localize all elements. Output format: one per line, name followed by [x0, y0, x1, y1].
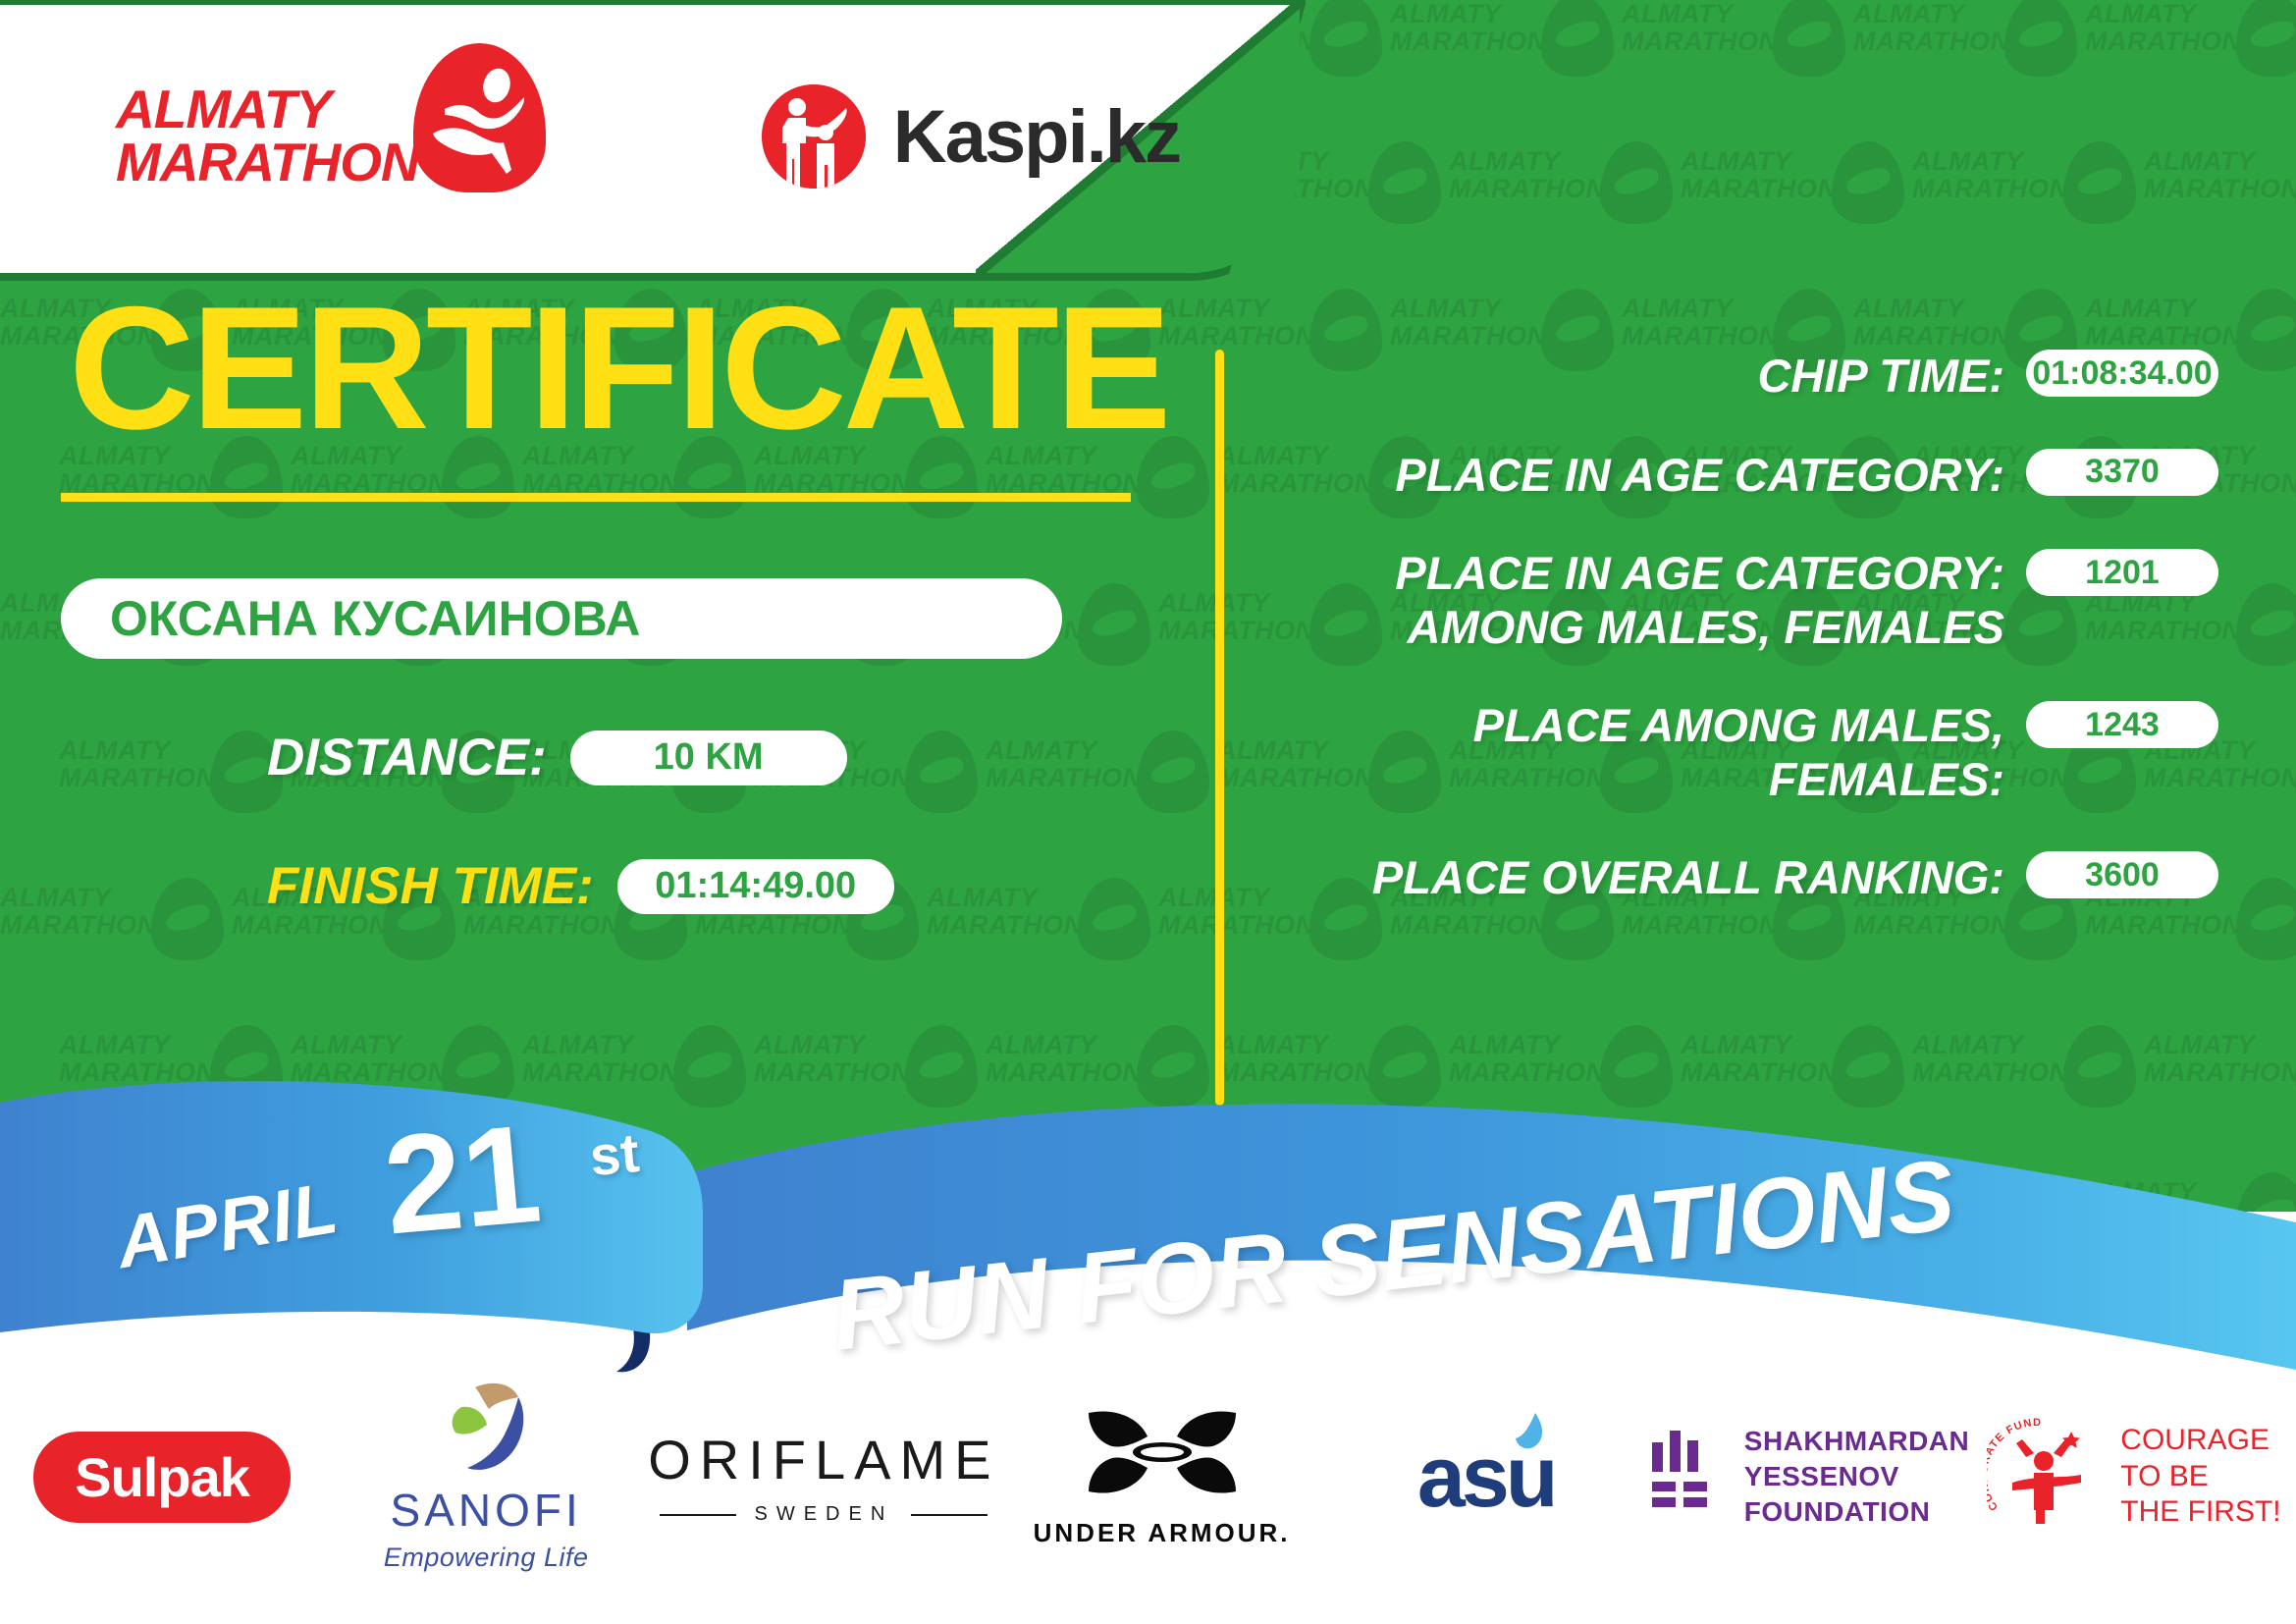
place-age-category-gender-value: 1201: [2085, 554, 2160, 592]
place-age-category-gender-label-line1: PLACE IN AGE CATEGORY:: [1395, 547, 2004, 599]
asu-droplet-icon: [1512, 1411, 1551, 1454]
participant-name-field: ОКСАНА КУСАИНОВА: [61, 578, 1062, 659]
watermark-tile: ALMATY MARATHON: [1681, 147, 1912, 295]
almaty-marathon-wordmark: ALMATY MARATHON: [116, 83, 419, 189]
place-among-gender-value: 1243: [2085, 706, 2160, 744]
vertical-divider: [1215, 350, 1224, 1106]
distance-value-pill: 10 KM: [570, 731, 847, 785]
svg-text:CORPORATE FUND: CORPORATE FUND: [1987, 1418, 2042, 1513]
header-logos: ALMATY MARATHON: [0, 0, 1298, 273]
kaspi-people-glyph: [762, 84, 866, 189]
yessenov-icon: [1648, 1427, 1721, 1526]
watermark-drop-icon: [2236, 878, 2296, 960]
oriflame-rule-left: [660, 1514, 736, 1516]
place-overall-label: PLACE OVERALL RANKING:: [1276, 851, 2004, 905]
finish-time-value: 01:14:49.00: [655, 865, 856, 907]
watermark-drop-icon: [2236, 0, 2296, 77]
chip-time-value: 01:08:34.00: [2032, 354, 2212, 393]
place-among-gender-value-pill: 1243: [2026, 701, 2218, 748]
watermark-tile: ALMATY MARATHON: [1390, 0, 1622, 147]
oriflame-subtext: SWEDEN: [754, 1503, 893, 1526]
oriflame-wordmark: ORIFLAME: [648, 1428, 999, 1491]
place-age-category-label: PLACE IN AGE CATEGORY:: [1276, 449, 2004, 503]
oriflame-sub: SWEDEN: [648, 1503, 999, 1526]
sulpak-logo: Sulpak: [33, 1432, 291, 1523]
watermark-drop-icon: [2236, 289, 2296, 371]
courage-line1: COURAGE: [2120, 1423, 2280, 1459]
watermark-drop-icon: [1541, 0, 1614, 77]
sponsor-under-armour: UNDER ARMOUR.: [1000, 1405, 1324, 1548]
under-armour-wordmark: UNDER ARMOUR.: [1034, 1518, 1291, 1548]
sponsor-sanofi: SANOFI Empowering Life: [324, 1381, 648, 1573]
sponsor-sulpak: Sulpak: [0, 1432, 324, 1523]
right-column: CHIP TIME: 01:08:34.00 PLACE IN AGE CATE…: [1276, 350, 2218, 950]
running-man-icon: [413, 43, 546, 192]
page-title: CERTIFICATE: [0, 281, 1217, 456]
sponsor-oriflame: ORIFLAME SWEDEN: [648, 1428, 999, 1526]
ribbon-left-band: [0, 1081, 703, 1333]
place-age-category-gender-label-line2: AMONG MALES, FEMALES: [1276, 601, 2004, 655]
certificate-canvas: ALMATY MARATHONALMATY MARATHONALMATY MAR…: [0, 0, 2296, 1624]
yessenov-line2: FOUNDATION: [1744, 1494, 1972, 1530]
watermark-drop-icon: [1773, 0, 1845, 77]
place-age-category-value-pill: 3370: [2026, 449, 2218, 496]
asu-logo: asu: [1417, 1427, 1555, 1527]
courage-runner-icon: CORPORATE FUND: [1987, 1418, 2105, 1536]
courage-wordmark: COURAGE TO BE THE FIRST!: [2120, 1423, 2280, 1531]
watermark-drop-icon: [2063, 141, 2136, 224]
watermark-drop-icon: [2004, 0, 2077, 77]
place-among-gender-label: PLACE AMONG MALES, FEMALES:: [1276, 699, 2004, 806]
watermark-drop-icon: [1600, 141, 1673, 224]
place-age-category-gender-value-pill: 1201: [2026, 549, 2218, 596]
watermark-tile: ALMATY MARATHON: [1853, 0, 2085, 147]
sanofi-glyph: [432, 1381, 540, 1478]
finish-time-label: FINISH TIME:: [267, 856, 594, 916]
place-overall-value-pill: 3600: [2026, 851, 2218, 898]
place-age-category-row: PLACE IN AGE CATEGORY: 3370: [1276, 449, 2218, 503]
watermark-drop-icon: [1368, 141, 1441, 224]
place-age-category-gender-label: PLACE IN AGE CATEGORY: AMONG MALES, FEMA…: [1276, 547, 2004, 654]
watermark-tile: ALMATY MARATHON: [1449, 147, 1681, 295]
kaspi-people-icon: [762, 84, 866, 189]
title-underline: [61, 493, 1131, 502]
place-overall-value: 3600: [2085, 856, 2160, 894]
watermark-drop-icon: [1832, 141, 1904, 224]
almaty-marathon-line2: MARATHON: [116, 136, 419, 189]
place-overall-row: PLACE OVERALL RANKING: 3600: [1276, 851, 2218, 905]
ribbon-day-suffix: st: [587, 1120, 641, 1188]
yessenov-logo: SHAKHMARDAN YESSENOV FOUNDATION: [1648, 1424, 1972, 1529]
place-among-gender-label-line2: FEMALES:: [1276, 753, 2004, 807]
sponsor-yessenov: SHAKHMARDAN YESSENOV FOUNDATION: [1648, 1424, 1972, 1529]
watermark-drop-icon: [2236, 583, 2296, 666]
distance-label: DISTANCE:: [267, 728, 547, 787]
sanofi-wordmark: SANOFI: [384, 1484, 589, 1537]
watermark-tile: ALMATY MARATHON: [1622, 0, 1853, 147]
finish-time-row: FINISH TIME: 01:14:49.00: [267, 856, 1217, 916]
courage-arc-text: CORPORATE FUND: [1987, 1418, 2042, 1513]
watermark-tile: ALMATY MARATHON: [2085, 0, 2296, 147]
sanofi-logo: SANOFI Empowering Life: [384, 1381, 589, 1573]
watermark-drop-icon: [1309, 0, 1382, 77]
kaspi-wordmark: Kaspi.kz: [893, 94, 1180, 180]
yessenov-line1: SHAKHMARDAN YESSENOV: [1744, 1424, 1972, 1494]
under-armour-icon: [1079, 1405, 1246, 1503]
place-age-category-gender-row: PLACE IN AGE CATEGORY: AMONG MALES, FEMA…: [1276, 547, 2218, 654]
oriflame-logo: ORIFLAME SWEDEN: [648, 1428, 999, 1526]
distance-value: 10 KM: [654, 736, 764, 779]
almaty-marathon-logo: ALMATY MARATHON: [116, 81, 546, 192]
distance-row: DISTANCE: 10 KM: [267, 728, 1217, 787]
finish-time-value-pill: 01:14:49.00: [617, 859, 894, 914]
running-man-glyph: [413, 43, 546, 192]
sponsor-asu: asu: [1324, 1427, 1648, 1527]
yessenov-glyph: [1648, 1427, 1721, 1521]
kaspi-logo: Kaspi.kz: [762, 84, 1180, 189]
courage-line2: TO BE: [2120, 1459, 2280, 1495]
yessenov-wordmark: SHAKHMARDAN YESSENOV FOUNDATION: [1744, 1424, 1972, 1529]
sponsor-bar: Sulpak SANOFI Empowering Life ORIFLAME: [0, 1329, 2296, 1624]
participant-name: ОКСАНА КУСАИНОВА: [110, 590, 640, 647]
left-column: CERTIFICATE ОКСАНА КУСАИНОВА DISTANCE: 1…: [0, 281, 1217, 916]
watermark-tile: ALMATY MARATHON: [2144, 147, 2296, 295]
chip-time-row: CHIP TIME: 01:08:34.00: [1276, 350, 2218, 404]
under-armour-logo: UNDER ARMOUR.: [1034, 1405, 1291, 1548]
chip-time-label: CHIP TIME:: [1276, 350, 2004, 404]
ribbon-day: 21: [379, 1104, 546, 1256]
chip-time-value-pill: 01:08:34.00: [2026, 350, 2218, 397]
sanofi-icon: [432, 1381, 540, 1478]
sanofi-tagline: Empowering Life: [384, 1543, 589, 1573]
courage-logo: CORPORATE FUND COURAGE TO BE THE FIRST!: [1987, 1418, 2280, 1536]
place-among-gender-label-line1: PLACE AMONG MALES,: [1473, 699, 2004, 751]
sponsor-courage: CORPORATE FUND COURAGE TO BE THE FIRST!: [1972, 1418, 2296, 1536]
place-among-gender-row: PLACE AMONG MALES, FEMALES: 1243: [1276, 699, 2218, 806]
oriflame-rule-right: [911, 1514, 988, 1516]
courage-line3: THE FIRST!: [2120, 1494, 2280, 1531]
watermark-tile: ALMATY MARATHON: [1912, 147, 2144, 295]
place-age-category-value: 3370: [2085, 453, 2160, 491]
almaty-marathon-line1: ALMATY: [116, 83, 419, 136]
